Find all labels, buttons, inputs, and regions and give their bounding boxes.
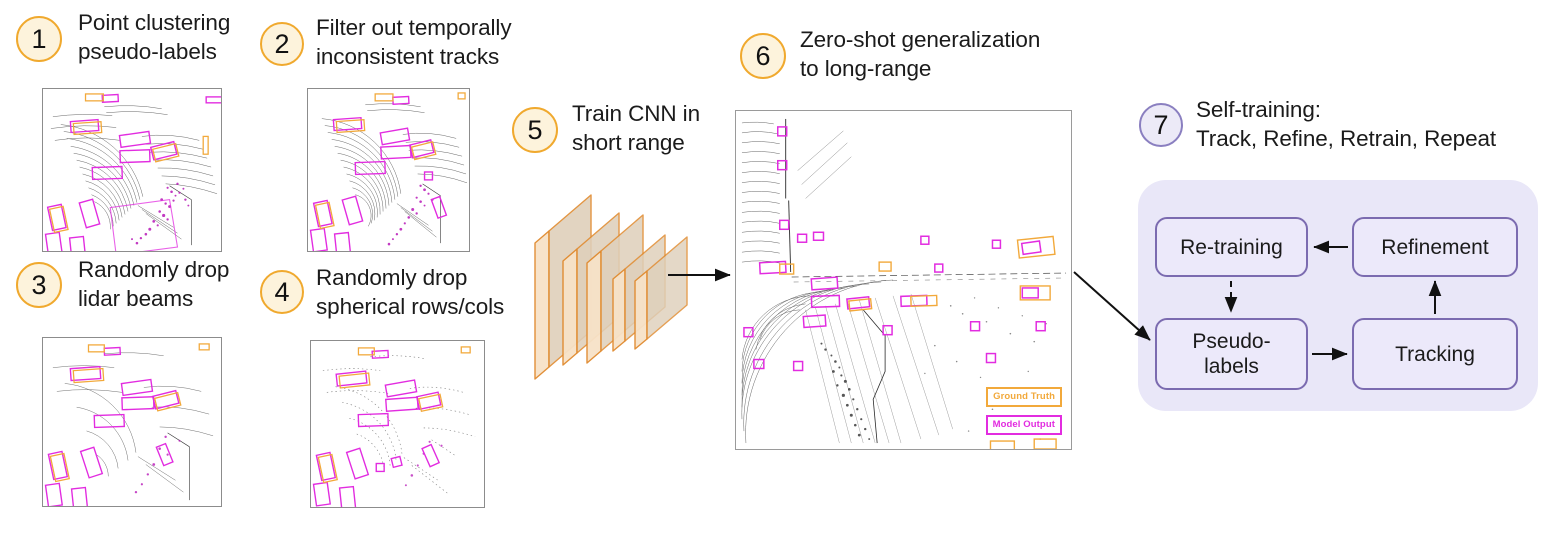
cnn-layer-stack	[525, 185, 725, 390]
step-badge-1: 1	[16, 16, 62, 62]
flow-box-pseudo-labels[interactable]: Pseudo- labels	[1155, 318, 1308, 390]
lidar-scene-3	[43, 338, 221, 506]
lidar-panel-6-long-range: Ground Truth Model Output	[735, 110, 1072, 450]
step-badge-6-number: 6	[755, 41, 770, 72]
step-label-3: Randomly drop lidar beams	[78, 256, 263, 313]
step-badge-7-number: 7	[1153, 110, 1168, 141]
flow-box-re-training-label: Re-training	[1180, 235, 1283, 260]
flow-box-tracking[interactable]: Tracking	[1352, 318, 1518, 390]
step-badge-6: 6	[740, 33, 786, 79]
step-badge-5: 5	[512, 107, 558, 153]
step-badge-4-number: 4	[274, 277, 289, 308]
step-badge-3-number: 3	[31, 270, 46, 301]
flow-box-pseudo-labels-label: Pseudo- labels	[1192, 329, 1270, 379]
step-badge-4: 4	[260, 270, 304, 314]
step-badge-5-number: 5	[527, 115, 542, 146]
legend-ground-truth: Ground Truth	[986, 387, 1062, 407]
step-label-4: Randomly drop spherical rows/cols	[316, 264, 541, 321]
lidar-panel-3	[42, 337, 222, 507]
step-label-2: Filter out temporally inconsistent track…	[316, 14, 541, 71]
step-label-1: Point clustering pseudo-labels	[78, 9, 258, 66]
lidar-panel-4	[310, 340, 485, 508]
flow-box-re-training[interactable]: Re-training	[1155, 217, 1308, 277]
step-badge-1-number: 1	[31, 24, 46, 55]
flow-box-refinement[interactable]: Refinement	[1352, 217, 1518, 277]
step-label-6: Zero-shot generalization to long-range	[800, 26, 1070, 83]
step-label-7: Self-training: Track, Refine, Retrain, R…	[1196, 96, 1546, 153]
step-badge-3: 3	[16, 262, 62, 308]
step-badge-2-number: 2	[274, 29, 289, 60]
lidar-scene-2	[308, 89, 469, 251]
legend-model-output: Model Output	[986, 415, 1062, 435]
flow-box-tracking-label: Tracking	[1395, 342, 1475, 367]
lidar-scene-4	[311, 341, 484, 507]
lidar-scene-1	[43, 89, 221, 251]
step-label-5: Train CNN in short range	[572, 100, 722, 157]
step-badge-2: 2	[260, 22, 304, 66]
flow-box-refinement-label: Refinement	[1381, 235, 1488, 260]
step-badge-7: 7	[1139, 103, 1183, 147]
lidar-panel-1	[42, 88, 222, 252]
lidar-panel-2	[307, 88, 470, 252]
